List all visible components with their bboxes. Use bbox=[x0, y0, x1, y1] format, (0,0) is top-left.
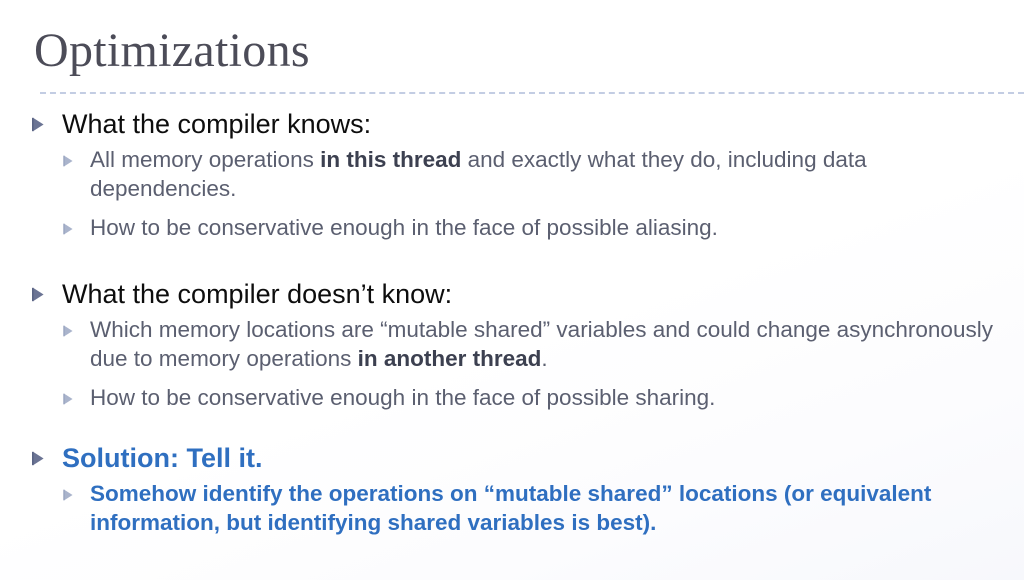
bullet-level2-label: All memory operations in this thread and… bbox=[90, 145, 995, 203]
triangle-right-icon bbox=[32, 117, 45, 132]
sub-identify-operations: Somehow identify the operations on “muta… bbox=[0, 479, 1024, 537]
slide-body: What the compiler knows:All memory opera… bbox=[0, 104, 1024, 580]
sub-mutable-shared: Which memory locations are “mutable shar… bbox=[0, 315, 1024, 373]
bullet-level1: What the compiler doesn’t know: bbox=[0, 276, 1024, 312]
title-block: Optimizations bbox=[34, 22, 1024, 88]
bullet-level1-label: What the compiler doesn’t know: bbox=[62, 276, 452, 312]
sub-conservative-aliasing: How to be conservative enough in the fac… bbox=[0, 213, 1024, 242]
bullet-level1: What the compiler knows: bbox=[0, 106, 1024, 142]
slide: Optimizations What the compiler knows:Al… bbox=[0, 0, 1024, 580]
bullet-level2-label: How to be conservative enough in the fac… bbox=[90, 213, 718, 242]
title-divider bbox=[40, 92, 1024, 94]
group-compiler-knows: What the compiler knows:All memory opera… bbox=[0, 106, 1024, 242]
bullet-level2-label: Somehow identify the operations on “muta… bbox=[90, 479, 995, 537]
group-spacer bbox=[0, 412, 1024, 438]
bullet-level2-label: How to be conservative enough in the fac… bbox=[90, 383, 715, 412]
bullet-level2-label: Which memory locations are “mutable shar… bbox=[90, 315, 995, 373]
page-title: Optimizations bbox=[34, 22, 1024, 80]
group-compiler-doesnt-know: What the compiler doesn’t know:Which mem… bbox=[0, 276, 1024, 412]
bullet-spacer bbox=[0, 373, 1024, 380]
triangle-right-icon bbox=[63, 489, 74, 501]
triangle-right-icon bbox=[63, 325, 74, 337]
triangle-right-icon bbox=[63, 393, 74, 405]
group-solution: Solution: Tell it.Somehow identify the o… bbox=[0, 440, 1024, 537]
group-spacer bbox=[0, 242, 1024, 274]
sub-memory-operations: All memory operations in this thread and… bbox=[0, 145, 1024, 203]
bullet-level1-label: What the compiler knows: bbox=[62, 106, 371, 142]
triangle-right-icon bbox=[32, 451, 45, 466]
sub-conservative-sharing: How to be conservative enough in the fac… bbox=[0, 383, 1024, 412]
bullet-level1-label: Solution: Tell it. bbox=[62, 440, 262, 476]
triangle-right-icon bbox=[63, 223, 74, 235]
triangle-right-icon bbox=[32, 287, 45, 302]
bullet-level1: Solution: Tell it. bbox=[0, 440, 1024, 476]
triangle-right-icon bbox=[63, 155, 74, 167]
bullet-spacer bbox=[0, 203, 1024, 210]
